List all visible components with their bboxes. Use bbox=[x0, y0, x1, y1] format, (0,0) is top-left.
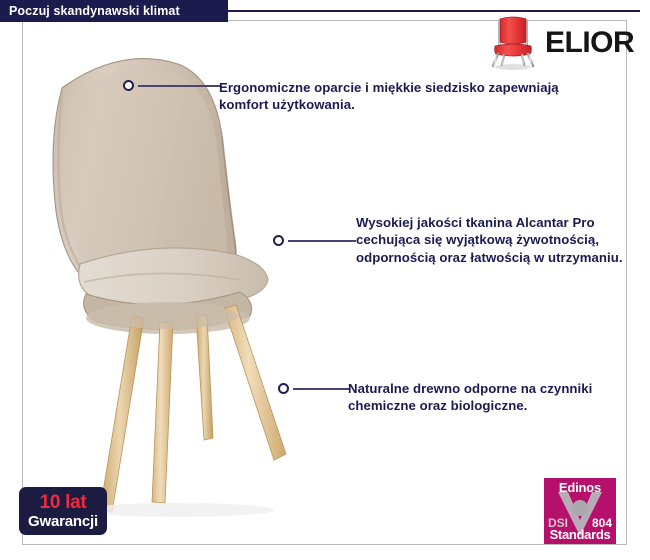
annotation-fabric: Wysokiej jakości tkanina Alcantar Pro ce… bbox=[356, 214, 631, 266]
warranty-years: 10 lat bbox=[40, 493, 87, 512]
warranty-label: Gwarancji bbox=[28, 514, 98, 529]
warranty-badge: 10 lat Gwarancji bbox=[19, 487, 107, 535]
certificate-brand: Edinos bbox=[544, 480, 616, 495]
annotation-wood: Naturalne drewno odporne na czynniki che… bbox=[348, 380, 638, 415]
leader-line-2 bbox=[288, 240, 356, 242]
leader-line-1 bbox=[138, 85, 220, 87]
annotation-dot-backrest[interactable] bbox=[123, 80, 134, 91]
red-chair-icon bbox=[487, 15, 539, 71]
brand-name: ELIOR bbox=[545, 28, 634, 58]
certificate-badge: Edinos DSI 804 Standards bbox=[544, 478, 616, 544]
header-bar: Poczuj skandynawski klimat bbox=[0, 0, 228, 22]
annotation-backrest: Ergonomiczne oparcie i miękkie siedzisko… bbox=[219, 79, 564, 114]
annotation-dot-fabric[interactable] bbox=[273, 235, 284, 246]
infographic-canvas: Poczuj skandynawski klimat bbox=[0, 0, 650, 560]
leader-line-3 bbox=[293, 388, 349, 390]
brand-logo: ELIOR bbox=[487, 14, 627, 72]
page-title: Poczuj skandynawski klimat bbox=[9, 4, 180, 18]
annotation-dot-wood[interactable] bbox=[278, 383, 289, 394]
certificate-standard: Standards bbox=[544, 527, 616, 542]
